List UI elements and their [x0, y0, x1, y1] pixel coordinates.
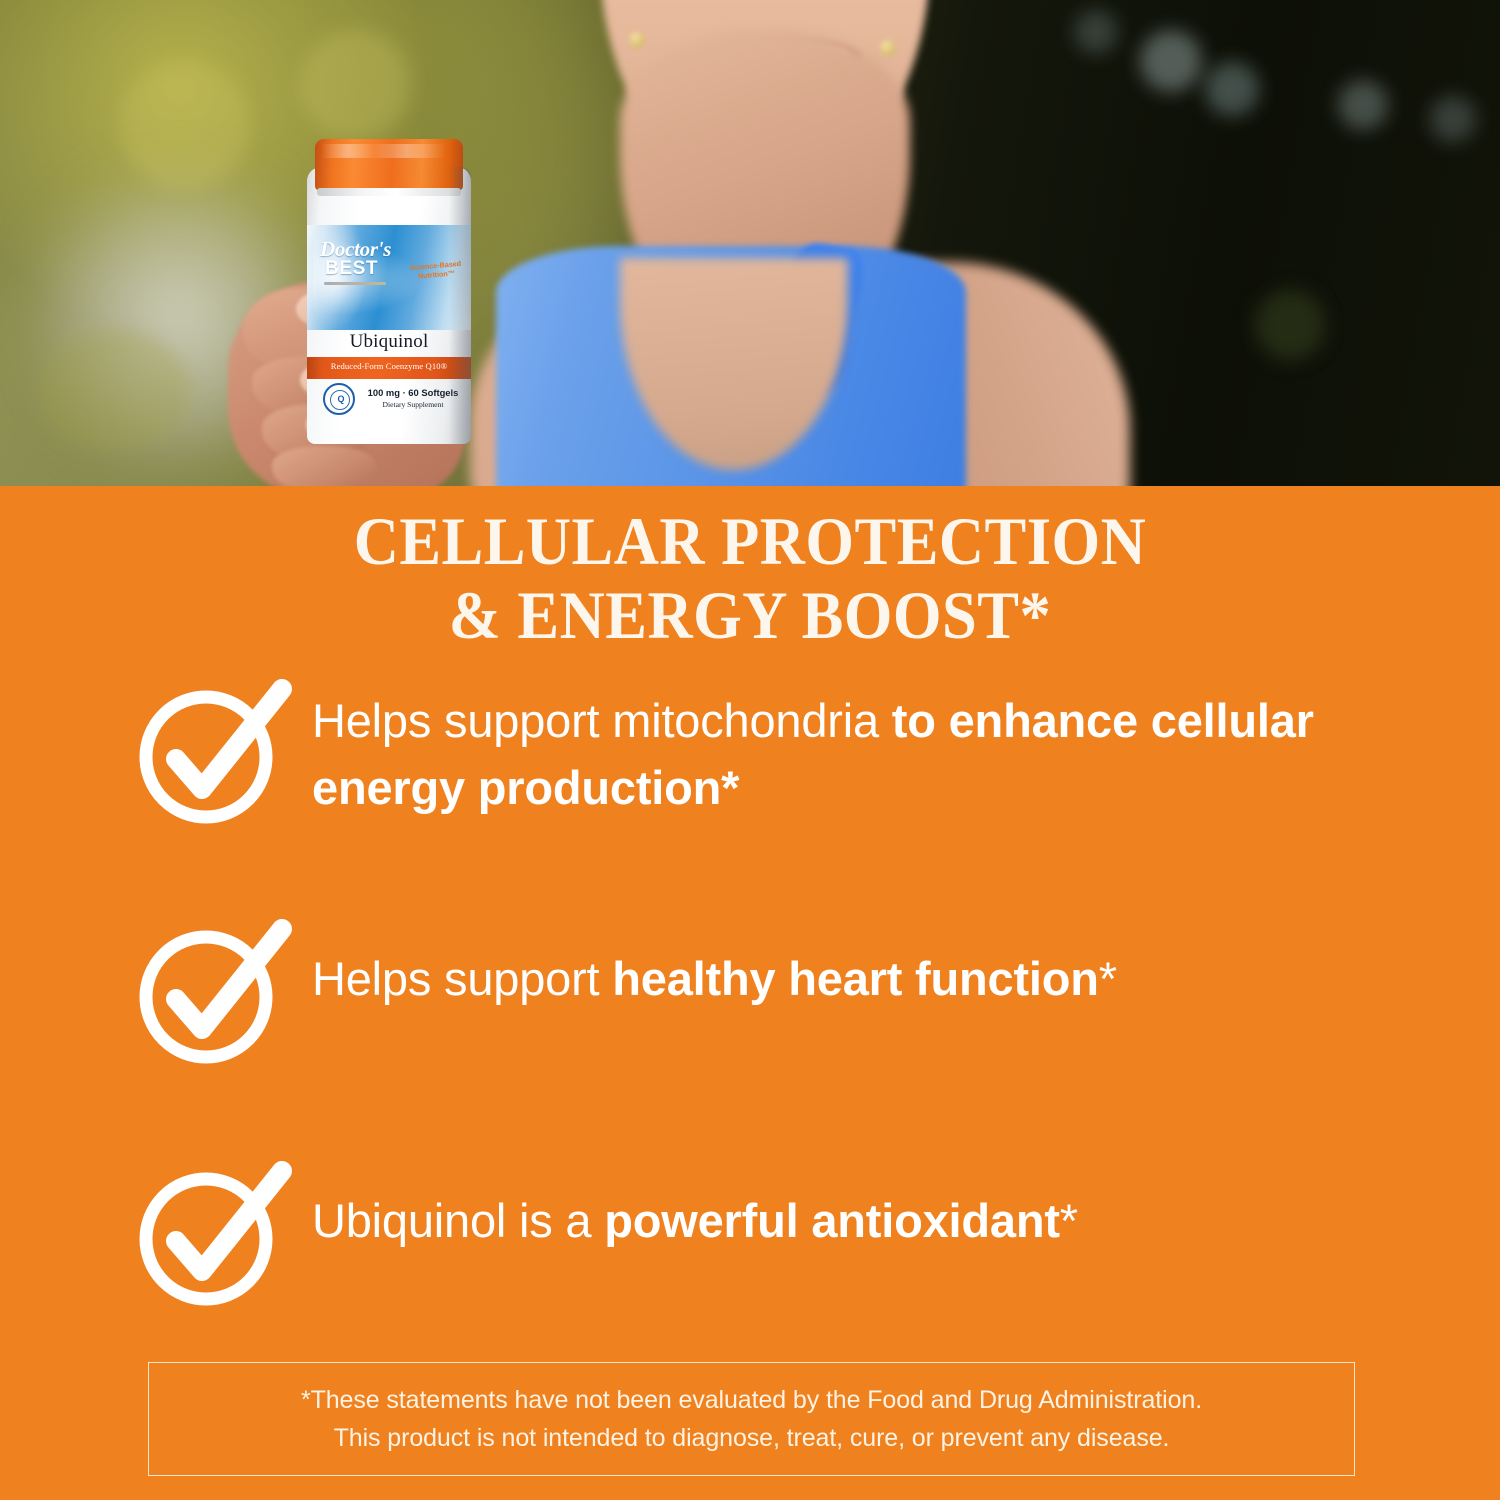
benefit-text-plain: Helps support mitochondria — [312, 694, 892, 747]
check-circle-icon — [132, 677, 294, 827]
bokeh-highlight — [120, 60, 250, 190]
headline: CELLULAR PROTECTION & ENERGY BOOST* — [60, 504, 1440, 652]
benefits-list: Helps support mitochondria to enhance ce… — [0, 681, 1500, 1313]
product-marketing-image: Doctor's BEST Science-Based Nutrition™ U… — [0, 0, 1500, 1500]
check-circle-icon — [132, 1159, 294, 1309]
bokeh-highlight — [300, 30, 410, 140]
headline-line-2: & ENERGY BOOST* — [60, 578, 1440, 652]
hero-photo: Doctor's BEST Science-Based Nutrition™ U… — [0, 0, 1500, 486]
bottle-cap-ring — [317, 188, 461, 196]
benefit-text-plain: Ubiquinol is a — [312, 1194, 604, 1247]
list-item: Ubiquinol is a powerful antioxidant* — [0, 1163, 1500, 1313]
benefit-text-bold: healthy heart function — [612, 952, 1099, 1005]
list-item: Helps support healthy heart function* — [0, 921, 1500, 1071]
benefit-text-plain: Helps support — [312, 952, 612, 1005]
finger — [272, 446, 376, 486]
earring-right — [880, 40, 896, 56]
list-item: Helps support mitochondria to enhance ce… — [0, 681, 1500, 831]
headline-line-1: CELLULAR PROTECTION — [60, 504, 1440, 578]
bottle-shading — [449, 167, 471, 444]
bottle-cap — [315, 139, 463, 191]
benefits-panel: CELLULAR PROTECTION & ENERGY BOOST* Help… — [0, 486, 1500, 1500]
benefit-text-suffix: * — [1060, 1194, 1078, 1247]
bokeh-highlight — [1074, 10, 1118, 54]
bokeh-highlight — [1338, 80, 1388, 130]
benefit-text: Helps support healthy heart function* — [312, 921, 1117, 1012]
product-name: Ubiquinol — [307, 331, 471, 353]
bokeh-highlight — [1205, 62, 1259, 116]
product-subtitle: Reduced-Form Coenzyme Q10® — [307, 361, 471, 371]
benefit-text-suffix: * — [1099, 952, 1117, 1005]
bokeh-highlight — [40, 330, 190, 450]
brand-name-bold: BEST — [325, 258, 378, 280]
benefit-text: Helps support mitochondria to enhance ce… — [312, 681, 1432, 821]
bokeh-highlight — [1430, 96, 1476, 142]
benefit-text: Ubiquinol is a powerful antioxidant* — [312, 1163, 1078, 1254]
benefit-text-bold: powerful antioxidant — [604, 1194, 1060, 1247]
disclaimer-line-2: This product is not intended to diagnose… — [334, 1419, 1170, 1457]
bokeh-highlight — [1140, 30, 1202, 92]
brand-underline — [324, 282, 386, 285]
product-bottle: Doctor's BEST Science-Based Nutrition™ U… — [307, 139, 471, 444]
bokeh-highlight — [1255, 290, 1325, 360]
certification-seal-icon: Q — [323, 383, 355, 415]
disclaimer-line-1: *These statements have not been evaluate… — [301, 1381, 1202, 1419]
check-circle-icon — [132, 917, 294, 1067]
earring-left — [629, 32, 645, 48]
disclaimer-box: *These statements have not been evaluate… — [148, 1362, 1355, 1476]
seal-letter: Q — [325, 394, 357, 404]
